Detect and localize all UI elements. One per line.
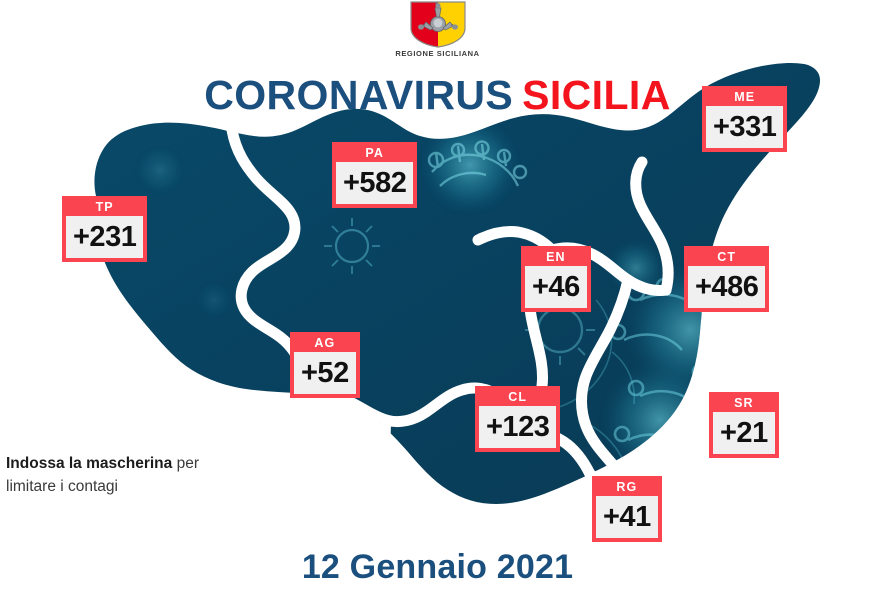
badge-value: +123 [479, 406, 556, 448]
coronavirus-sicilia-infographic: REGIONE SICILIANA CORONAVIRUSSICILIA TP … [0, 0, 875, 593]
report-date: 12 Gennaio 2021 [0, 548, 875, 587]
mask-advice-note: Indossa la mascherina per limitare i con… [6, 452, 216, 498]
regione-siciliana-emblem: REGIONE SICILIANA [0, 0, 875, 62]
title-sicilia: SICILIA [522, 72, 671, 118]
emblem-caption: REGIONE SICILIANA [395, 49, 479, 58]
badge-enna[interactable]: EN +46 [521, 246, 591, 312]
badge-code: EN [525, 249, 587, 266]
page-title: CORONAVIRUSSICILIA [0, 72, 875, 119]
badge-palermo[interactable]: PA +582 [332, 142, 417, 208]
badge-value: +582 [336, 162, 413, 204]
badge-siracusa[interactable]: SR +21 [709, 392, 779, 458]
trinacria-icon [403, 0, 473, 48]
badge-code: AG [294, 335, 356, 352]
badge-catania[interactable]: CT +486 [684, 246, 769, 312]
mask-advice-bold: Indossa la mascherina [6, 455, 172, 472]
badge-code: SR [713, 395, 775, 412]
badge-value: +41 [596, 496, 658, 538]
badge-value: +231 [66, 216, 143, 258]
badge-trapani[interactable]: TP +231 [62, 196, 147, 262]
badge-value: +21 [713, 412, 775, 454]
badge-ragusa[interactable]: RG +41 [592, 476, 662, 542]
badge-code: PA [336, 145, 413, 162]
badge-code: CL [479, 389, 556, 406]
badge-agrigento[interactable]: AG +52 [290, 332, 360, 398]
badge-code: RG [596, 479, 658, 496]
badge-code: CT [688, 249, 765, 266]
badge-value: +486 [688, 266, 765, 308]
badge-value: +52 [294, 352, 356, 394]
badge-code: TP [66, 199, 143, 216]
badge-caltanissetta[interactable]: CL +123 [475, 386, 560, 452]
title-coronavirus: CORONAVIRUS [204, 72, 513, 118]
badge-value: +46 [525, 266, 587, 308]
